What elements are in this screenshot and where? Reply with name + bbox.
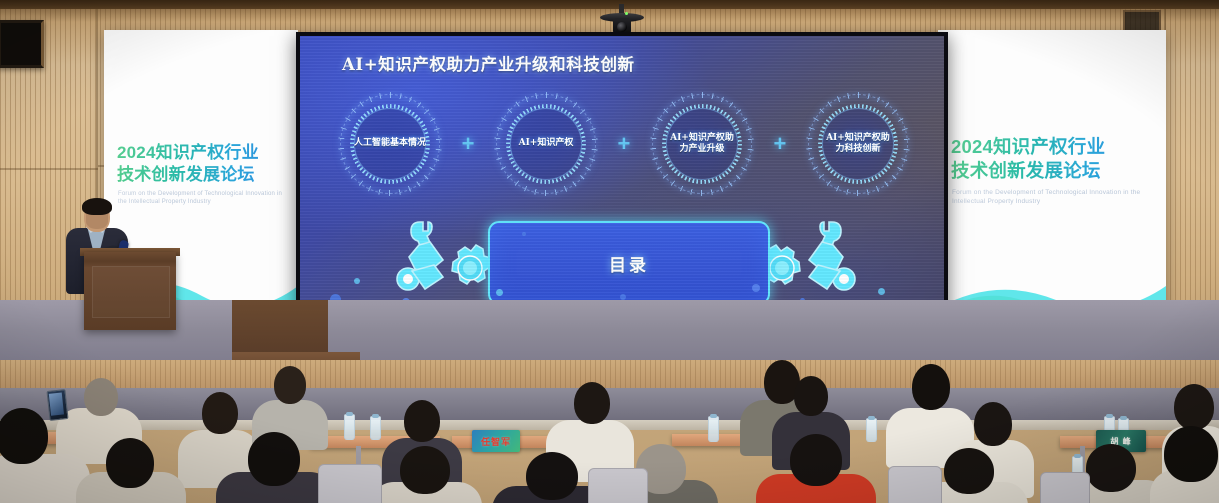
person-head [0,408,48,464]
directory-box[interactable]: 目录 [488,221,770,305]
person-head [202,392,238,434]
directory-area: 目录 [396,216,856,308]
person-head [404,400,440,442]
bottle-cap [710,414,717,418]
audience-person-front [756,434,876,503]
ring-item-1[interactable]: 人工智能基本情况 [334,91,446,196]
person-head [574,382,610,424]
poster-right-title-line1: 2024知识产权行业 [951,135,1158,159]
person-head [526,452,578,500]
poster-right-inner: 2024知识产权行业 技术创新发展论坛 Forum on the Develop… [938,30,1166,326]
audience-person-front [370,446,482,503]
chair [318,464,382,503]
water-bottle [708,416,719,442]
audience-area: 任智军 胡 峰 [0,360,1219,503]
person-head [794,376,828,416]
audience-person-front [76,438,186,503]
slide-canvas: AI+知识产权助力产业升级和科技创新 人工智能基本情况 + AI+知识产权 [300,36,944,329]
bottle-cap [372,414,379,418]
plus-icon-3: + [774,133,787,155]
bottle-cap [346,412,353,416]
slide-rings-row: 人工智能基本情况 + AI+知识产权 + AI+知识产权助力产业升级 [334,91,914,196]
water-bottle [370,416,381,440]
podium [84,252,176,330]
person-head [1174,384,1214,430]
podium-front-panel [92,266,170,318]
chair [888,466,942,503]
slide-title: AI+知识产权助力产业升级和科技创新 [342,51,635,75]
robot-arm-left-icon [390,216,500,304]
person-head [1164,426,1218,482]
poster-right-title: 2024知识产权行业 技术创新发展论坛 [951,135,1158,183]
person-head [974,402,1012,446]
poster-right-subtitle: Forum on the Development of Technologica… [952,188,1156,206]
person-head [274,366,306,404]
decor-dot [752,284,760,292]
plus-icon-1: + [462,133,475,155]
person-head [790,434,842,486]
bottle-cap [868,416,875,420]
directory-label: 目录 [609,251,649,276]
poster-right: 2024知识产权行业 技术创新发展论坛 Forum on the Develop… [938,30,1166,326]
ring-label-2: AI+知识产权 [510,138,582,149]
poster-left-title-line2: 技术创新发展论坛 [117,164,290,186]
person-head [248,432,300,486]
led-presentation-screen: AI+知识产权助力产业升级和科技创新 人工智能基本情况 + AI+知识产权 [296,32,948,333]
audience-person-front [216,432,334,503]
ring-item-3[interactable]: AI+知识产权助力产业升级 [646,91,758,196]
bottle-cap [1106,414,1113,418]
audience-person-front [1150,426,1219,503]
person-head [912,364,950,410]
decor-dot [396,56,399,59]
bottle-cap [1120,416,1127,420]
ring-item-4[interactable]: AI+知识产权助力科技创新 [802,91,914,196]
wall-seam [0,168,98,170]
decor-dot [522,232,526,236]
poster-left-title-line1: 2024知识产权行业 [117,142,290,164]
conference-hall-scene: 2024知识产权行业 技术创新发展论坛 Forum on the Develop… [0,0,1219,503]
person-head [1086,444,1136,492]
chair [588,468,648,503]
decor-dot [354,278,360,284]
poster-left-title: 2024知识产权行业 技术创新发展论坛 [117,142,290,186]
ring-label-4: AI+知识产权助力科技创新 [822,133,894,155]
decor-dot [496,289,503,296]
ring-label-3: AI+知识产权助力产业升级 [666,133,738,155]
ring-item-2[interactable]: AI+知识产权 [490,91,602,196]
person-head [106,438,154,488]
nameplate-1-text: 任智军 [481,435,511,448]
ring-label-1: 人工智能基本情况 [354,138,426,149]
speaker-hair [82,198,112,215]
person-head [400,446,450,494]
plus-icon-2: + [618,133,631,155]
poster-left-subtitle: Forum on the Development of Technologica… [118,190,288,206]
person-head [944,448,994,494]
camera-led [625,12,628,15]
water-bottle [344,414,355,440]
chair [1040,472,1090,503]
decor-dot [878,288,885,295]
camera-lens [617,22,627,32]
poster-right-title-line2: 技术创新发展论坛 [951,159,1158,183]
wall-monitor-icon [0,20,44,68]
